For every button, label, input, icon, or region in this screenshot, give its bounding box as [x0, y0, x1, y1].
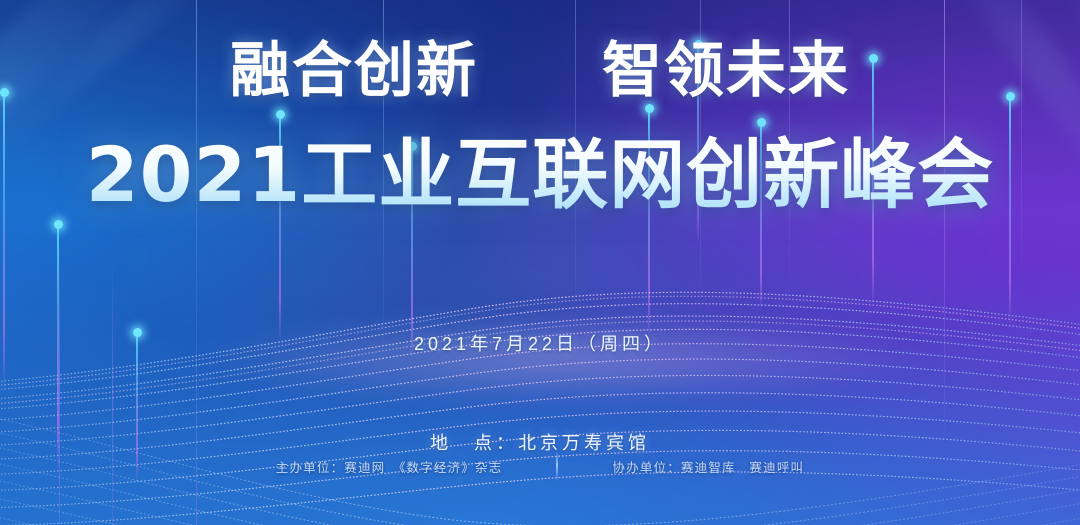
event-date: 2021年7月22日（周四） [0, 328, 1080, 361]
footer-divider [556, 451, 558, 481]
conference-poster: 融合创新 智领未来 2021工业互联网创新峰会 2021年7月22日（周四） 地… [0, 0, 1080, 525]
poster-main-title: 2021工业互联网创新峰会 [0, 132, 1080, 218]
poster-footer: 主办单位：赛迪网 《数字经济》杂志 协办单位：赛迪智库 赛迪呼叫 [0, 451, 1080, 481]
event-info: 2021年7月22日（周四） 地 点：北京万寿宾馆 [0, 262, 1080, 525]
footer-co-organizer: 协办单位：赛迪智库 赛迪呼叫 [612, 457, 804, 476]
poster-tagline: 融合创新 智领未来 [0, 36, 1080, 106]
footer-organizer: 主办单位：赛迪网 《数字经济》杂志 [276, 457, 503, 476]
